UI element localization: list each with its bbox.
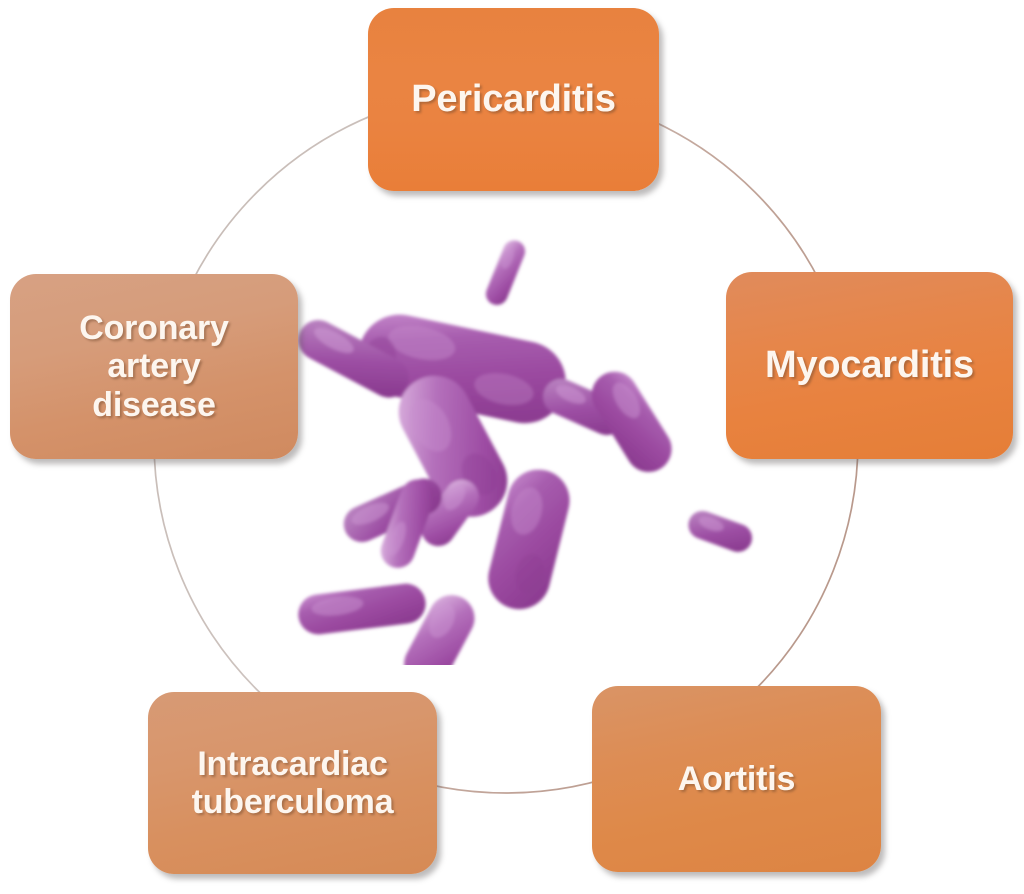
diagram-canvas: Pericarditis Myocarditis Aortitis Intrac… [0,0,1024,894]
node-coronary-artery-disease[interactable]: Coronary artery disease [10,274,298,459]
node-intracardiac-line-2: tuberculoma [192,783,394,821]
node-intracardiac-line-1: Intracardiac [197,745,387,783]
node-aortitis-label: Aortitis [668,760,805,798]
node-myocarditis-label: Myocarditis [755,344,984,387]
node-coronary-line-3: disease [92,386,215,424]
bacteria-illustration [290,215,760,665]
node-pericarditis[interactable]: Pericarditis [368,8,659,191]
node-aortitis[interactable]: Aortitis [592,686,881,872]
node-intracardiac-tuberculoma[interactable]: Intracardiac tuberculoma [148,692,437,874]
node-myocarditis[interactable]: Myocarditis [726,272,1013,459]
node-pericarditis-label: Pericarditis [401,78,626,121]
node-coronary-line-2: artery [107,347,200,385]
node-coronary-line-1: Coronary [79,309,229,347]
node-coronary-artery-disease-label: Coronary artery disease [69,309,239,423]
node-intracardiac-tuberculoma-label: Intracardiac tuberculoma [182,745,404,821]
